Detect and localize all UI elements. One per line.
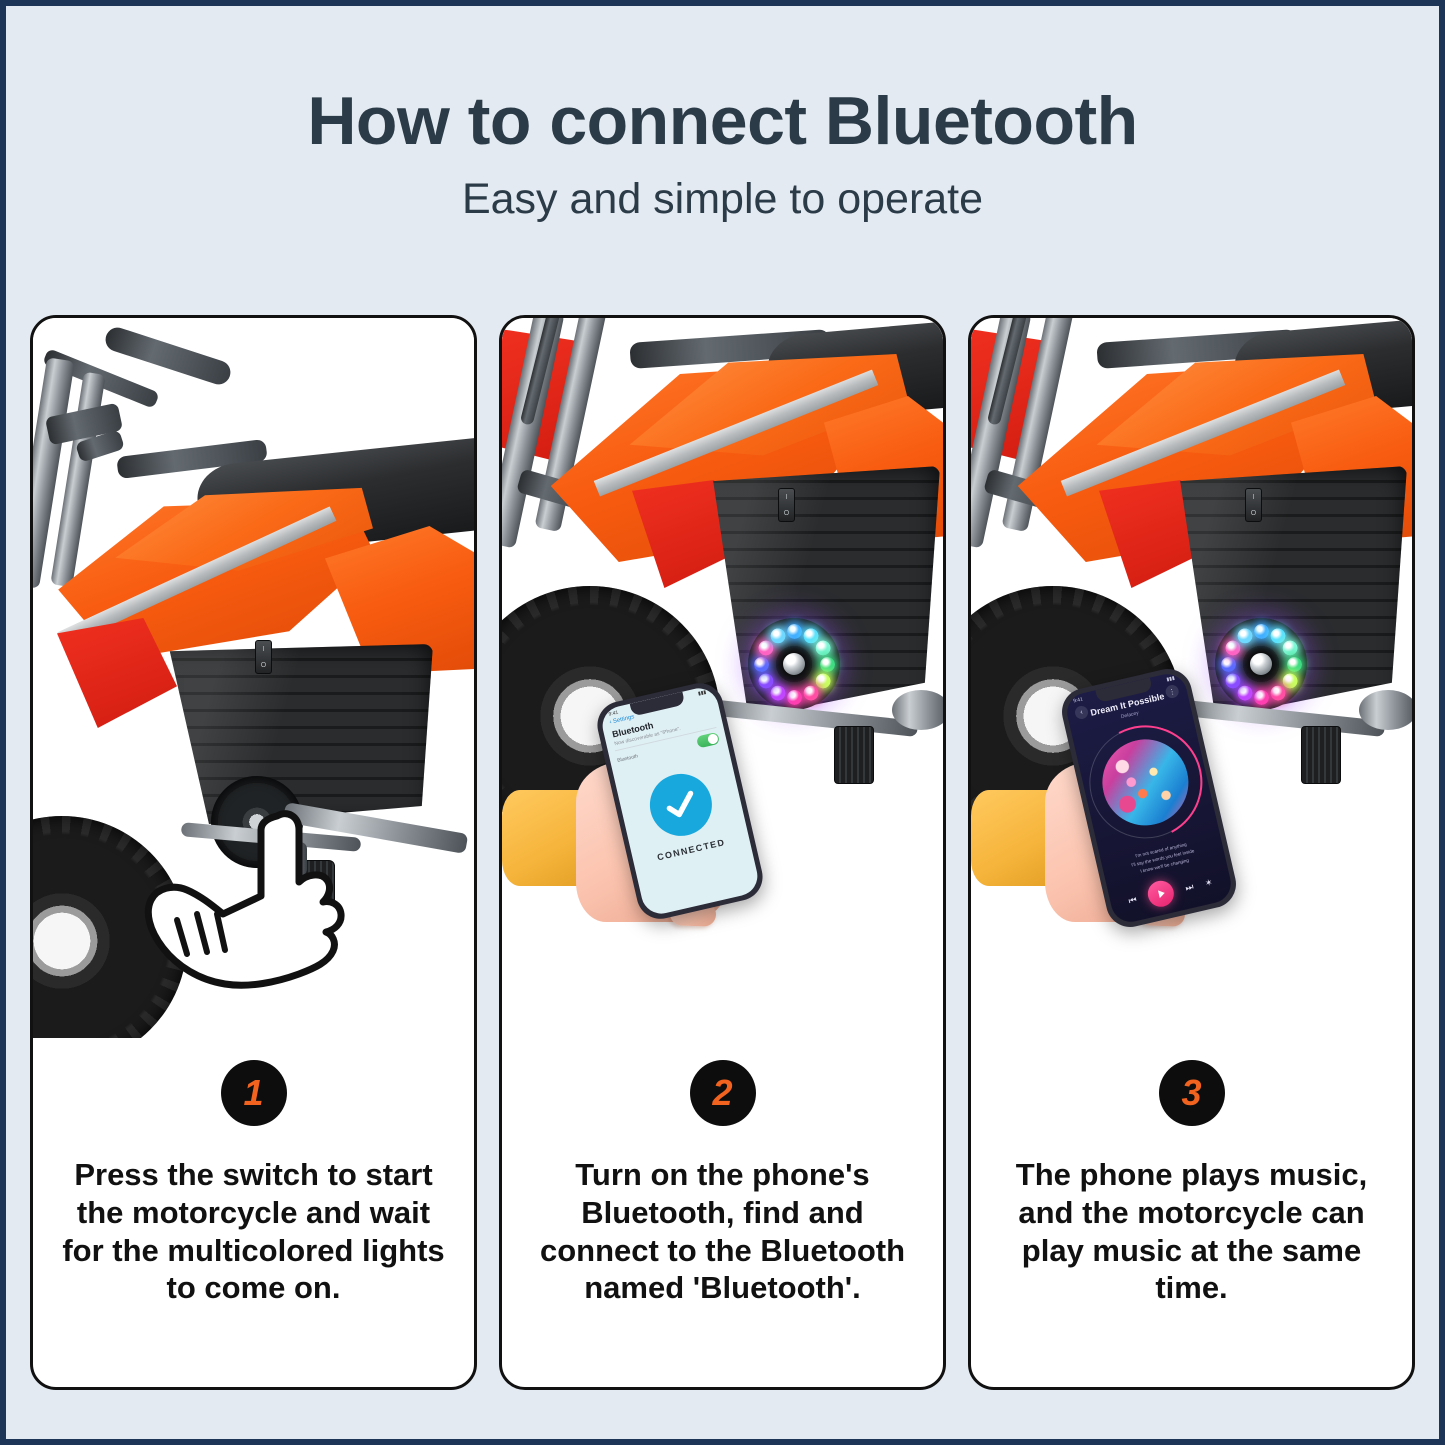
- led-light: [1237, 685, 1252, 700]
- led-light: [1254, 690, 1269, 705]
- step-text-2: Turn on the phone's Bluetooth, find and …: [524, 1156, 921, 1307]
- led-light: [1254, 624, 1269, 639]
- infographic-page: { "header": { "title": "How to connect B…: [0, 0, 1445, 1445]
- led-light-ring: [1215, 618, 1307, 710]
- bluetooth-toggle-switch[interactable]: [696, 732, 720, 749]
- caption-step-3: 3 The phone plays music, and the motorcy…: [971, 1038, 1412, 1387]
- play-button[interactable]: [1145, 878, 1176, 909]
- led-center-hub[interactable]: [783, 653, 805, 675]
- switch-on-label: I: [1253, 494, 1255, 501]
- step-text-3: The phone plays music, and the motorcycl…: [993, 1156, 1390, 1307]
- step-panel-2[interactable]: I O: [499, 315, 946, 1390]
- led-light: [1270, 685, 1285, 700]
- switch-on-label: I: [786, 494, 788, 501]
- caption-step-1: 1 Press the switch to start the motorcyc…: [33, 1038, 474, 1387]
- led-light-ring: [748, 618, 840, 710]
- power-switch[interactable]: I O: [255, 640, 272, 674]
- led-light: [758, 640, 773, 655]
- footpeg: [1301, 726, 1341, 784]
- power-switch[interactable]: I O: [1245, 488, 1262, 522]
- footpeg: [834, 726, 874, 784]
- led-light: [1270, 628, 1285, 643]
- hand-holding-phone: 9:41 ▮▮▮ ‹ ⋮ Dream It Possible Delacey I…: [971, 724, 1287, 1038]
- switch-on-label: I: [263, 646, 265, 653]
- next-track-icon[interactable]: ⏭: [1184, 881, 1194, 894]
- led-light: [803, 628, 818, 643]
- step-badge-2: 2: [690, 1060, 756, 1126]
- step-badge-1: 1: [221, 1060, 287, 1126]
- led-light: [1287, 657, 1302, 672]
- motorcycle-illustration: I O: [33, 318, 474, 1038]
- caption-step-2: 2 Turn on the phone's Bluetooth, find an…: [502, 1038, 943, 1387]
- shuffle-icon[interactable]: ✶: [1204, 877, 1214, 889]
- album-art-ring: [1078, 715, 1212, 849]
- steps-container: I O 1 Press the swit: [30, 315, 1415, 1390]
- led-center-hub[interactable]: [1250, 653, 1272, 675]
- previous-track-icon[interactable]: ⏮: [1127, 894, 1137, 907]
- step-badge-3: 3: [1159, 1060, 1225, 1126]
- led-light: [1282, 640, 1297, 655]
- led-light: [820, 657, 835, 672]
- power-switch[interactable]: I O: [778, 488, 795, 522]
- step-number-2: 2: [712, 1075, 732, 1111]
- illustration-step-2: I O: [502, 318, 943, 1038]
- led-light: [754, 657, 769, 672]
- switch-off-label: O: [1251, 510, 1256, 517]
- led-light: [803, 685, 818, 700]
- switch-off-label: O: [784, 510, 789, 517]
- rear-axle-mount: [1359, 690, 1412, 730]
- led-light: [787, 690, 802, 705]
- step-number-3: 3: [1181, 1075, 1201, 1111]
- connected-status-label: CONNECTED: [633, 832, 750, 868]
- page-subtitle: Easy and simple to operate: [6, 175, 1439, 224]
- illustration-step-3: I O: [971, 318, 1412, 1038]
- led-light: [770, 685, 785, 700]
- page-title: How to connect Bluetooth: [6, 86, 1439, 157]
- led-light: [787, 624, 802, 639]
- step-text-1: Press the switch to start the motorcycle…: [55, 1156, 452, 1307]
- step-panel-3[interactable]: I O: [968, 315, 1415, 1390]
- led-light: [815, 640, 830, 655]
- hand-holding-phone: 9:41 ▮▮▮ ‹ Settings Bluetooth Now discov…: [502, 724, 818, 1038]
- switch-off-label: O: [261, 662, 266, 669]
- step-number-1: 1: [243, 1075, 263, 1111]
- rear-axle-mount: [892, 690, 943, 730]
- bluetooth-row-label: Bluetooth: [617, 753, 639, 764]
- connected-check-icon: [644, 768, 718, 842]
- led-light: [1225, 673, 1240, 688]
- led-light: [1221, 657, 1236, 672]
- album-art-image: [1094, 731, 1197, 834]
- led-light: [1225, 640, 1240, 655]
- led-light: [1237, 628, 1252, 643]
- step-panel-1[interactable]: I O 1 Press the swit: [30, 315, 477, 1390]
- led-light: [815, 673, 830, 688]
- led-light: [1282, 673, 1297, 688]
- illustration-step-1: I O: [33, 318, 474, 1038]
- led-light: [770, 628, 785, 643]
- header: How to connect Bluetooth Easy and simple…: [6, 6, 1439, 224]
- pointing-hand-icon: [129, 808, 359, 1008]
- led-light: [758, 673, 773, 688]
